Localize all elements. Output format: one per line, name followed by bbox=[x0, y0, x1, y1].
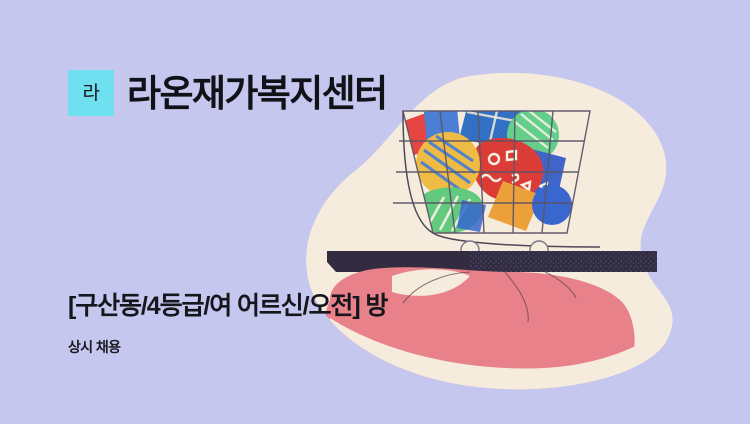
red-squiggle-circle bbox=[472, 138, 543, 201]
cart-base-bar bbox=[327, 251, 657, 272]
cart-handle bbox=[403, 111, 600, 247]
posting-title: [구산동/4등급/여 어르신/오전] 방 bbox=[68, 292, 387, 321]
cream-blob bbox=[306, 73, 672, 389]
brand-badge: 라 bbox=[68, 70, 114, 116]
illustration-shopping-cart bbox=[0, 0, 750, 424]
green-striped-circle bbox=[507, 109, 559, 161]
blue-gift-box bbox=[459, 68, 543, 152]
posting-status-badge: 상시 채용 bbox=[68, 340, 120, 354]
job-posting-banner: 라 라온재가복지센터 [구산동/4등급/여 어르신/오전] 방 상시 채용 bbox=[0, 0, 750, 424]
brand-name: 라온재가복지센터 bbox=[127, 75, 387, 112]
cart-frame bbox=[393, 111, 590, 233]
hand-illustration bbox=[310, 267, 668, 404]
blue-squiggle-square bbox=[509, 146, 566, 208]
yellow-striped-circle bbox=[416, 132, 480, 196]
cart-wheels bbox=[461, 241, 548, 259]
orange-diamond bbox=[488, 181, 541, 231]
brand-header: 라 라온재가복지센터 bbox=[68, 70, 387, 116]
blue-ball bbox=[532, 185, 572, 225]
green-blob bbox=[413, 187, 483, 233]
cart-contents bbox=[395, 68, 600, 245]
